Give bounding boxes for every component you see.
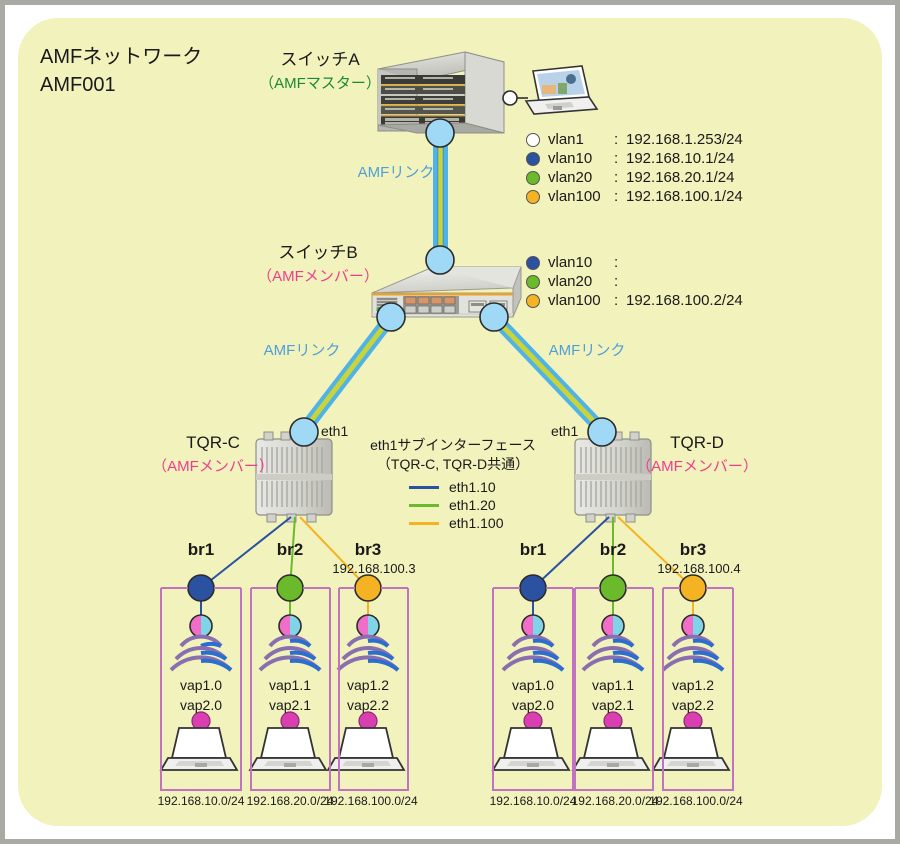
subnet-label-d-2: 192.168.20.0/24 <box>572 794 659 809</box>
vap-label-d-2b: vap2.1 <box>592 697 634 715</box>
tqr-c-device <box>256 432 332 522</box>
vap-label-d-1a: vap1.0 <box>512 677 554 695</box>
br-label-d-3: br3 <box>680 539 706 560</box>
diagram-page: AMFネットワーク AMF001 スイッチA （AMFマスター） スイッチB （… <box>0 0 900 844</box>
amf-link-b-c <box>304 317 391 430</box>
eth1-100-swatch <box>409 522 439 525</box>
vlan-sep: : <box>614 254 626 271</box>
legend-row: vlan20: <box>526 272 743 291</box>
subif-legend-items: eth1.10 eth1.20 eth1.100 <box>409 478 504 532</box>
page-title-line1: AMFネットワーク <box>40 45 202 70</box>
legend-row: vlan20:192.168.20.1/24 <box>526 168 743 187</box>
tqr-d-role: （AMFメンバー） <box>636 458 758 477</box>
vap-label-c-1b: vap2.0 <box>180 697 222 715</box>
subif-name: eth1.10 <box>449 479 496 495</box>
br-ip-c-3: 192.168.100.3 <box>332 561 415 577</box>
vlan-ip: 192.168.1.253/24 <box>626 131 743 148</box>
switch-b-role: （AMFメンバー） <box>257 268 379 287</box>
subnet-label-c-2: 192.168.20.0/24 <box>247 794 334 809</box>
vlan10-dot <box>526 152 540 166</box>
vlan-ip: 192.168.100.2/24 <box>626 292 743 309</box>
tqr-d-port-label: eth1 <box>551 423 578 441</box>
subif-legend-row: eth1.10 <box>409 478 504 496</box>
vlan100-dot <box>526 294 540 308</box>
vlan-sep: : <box>614 273 626 290</box>
vlan-sep: : <box>614 188 626 205</box>
vlan-name: vlan10 <box>548 254 614 271</box>
subif-legend-title-line1: eth1サブインターフェース <box>370 437 536 455</box>
vap-label-d-3a: vap1.2 <box>672 677 714 695</box>
management-laptop <box>504 66 597 114</box>
vlan1-dot <box>526 133 540 147</box>
tqr-c-role: （AMFメンバー） <box>152 458 274 477</box>
eth1-20-swatch <box>409 504 439 507</box>
legend-row: vlan10: <box>526 253 743 272</box>
page-title-line2: AMF001 <box>40 73 116 98</box>
vlan-name: vlan1 <box>548 131 614 148</box>
vlan10-dot <box>526 256 540 270</box>
br-label-c-1: br1 <box>188 539 214 560</box>
vlan-sep: : <box>614 169 626 186</box>
vlan-name: vlan100 <box>548 292 614 309</box>
subif-legend-row: eth1.20 <box>409 496 504 514</box>
vlan100-dot <box>526 190 540 204</box>
switch-a-role: （AMFマスター） <box>259 75 381 94</box>
legend-row: vlan100:192.168.100.2/24 <box>526 291 743 310</box>
vlan-sep: : <box>614 131 626 148</box>
vlan-ip: 192.168.20.1/24 <box>626 169 734 186</box>
vlan20-dot <box>526 275 540 289</box>
subif-legend-row: eth1.100 <box>409 514 504 532</box>
vlan-sep: : <box>614 150 626 167</box>
tqr-d-label: TQR-D <box>670 432 724 453</box>
vap-label-c-2a: vap1.1 <box>269 677 311 695</box>
tqr-c-port-label: eth1 <box>321 423 348 441</box>
vap-label-c-3a: vap1.2 <box>347 677 389 695</box>
subif-name: eth1.20 <box>449 497 496 513</box>
vap-label-c-3b: vap2.2 <box>347 697 389 715</box>
client-laptops <box>161 712 729 770</box>
br-ip-d-3: 192.168.100.4 <box>657 561 740 577</box>
br-label-c-3: br3 <box>355 539 381 560</box>
amf-link-label-b-d: AMFリンク <box>549 342 626 361</box>
vlan-legend-switch-b: vlan10: vlan20: vlan100:192.168.100.2/24 <box>526 253 743 310</box>
subif-legend-title-line2: （TQR-C, TQR-D共通） <box>377 456 529 474</box>
vap-label-d-2a: vap1.1 <box>592 677 634 695</box>
subif-name: eth1.100 <box>449 515 504 531</box>
vap-label-d-3b: vap2.2 <box>672 697 714 715</box>
vlan20-dot <box>526 171 540 185</box>
eth1-10-swatch <box>409 486 439 489</box>
amf-link-a-b <box>433 131 448 263</box>
vlan-sep: : <box>614 292 626 309</box>
legend-row: vlan1:192.168.1.253/24 <box>526 130 743 149</box>
br-label-d-1: br1 <box>520 539 546 560</box>
amf-link-label-a-b: AMFリンク <box>358 164 435 183</box>
vlan-ip: 192.168.100.1/24 <box>626 188 743 205</box>
vlan-ip: 192.168.10.1/24 <box>626 150 734 167</box>
vlan-name: vlan10 <box>548 150 614 167</box>
subnet-label-c-1: 192.168.10.0/24 <box>158 794 245 809</box>
br-label-c-2: br2 <box>277 539 303 560</box>
legend-row: vlan10:192.168.10.1/24 <box>526 149 743 168</box>
subnet-label-d-3: 192.168.100.0/24 <box>649 794 742 809</box>
amf-link-label-b-c: AMFリンク <box>264 342 341 361</box>
br-label-d-2: br2 <box>600 539 626 560</box>
vlan-legend-switch-a: vlan1:192.168.1.253/24 vlan10:192.168.10… <box>526 130 743 206</box>
bridge-group-boxes <box>161 588 733 790</box>
vlan-name: vlan100 <box>548 188 614 205</box>
subnet-label-d-1: 192.168.10.0/24 <box>490 794 577 809</box>
vap-label-d-1b: vap2.0 <box>512 697 554 715</box>
legend-row: vlan100:192.168.100.1/24 <box>526 187 743 206</box>
vap-radio-icons <box>171 615 723 670</box>
subnet-label-c-3: 192.168.100.0/24 <box>324 794 417 809</box>
vlan-name: vlan20 <box>548 169 614 186</box>
switch-b-label: スイッチB <box>278 242 357 263</box>
diagram-graphics <box>5 5 900 844</box>
amf-link-b-d <box>494 317 602 430</box>
tqr-d-device <box>575 432 651 522</box>
switch-a-label: スイッチA <box>280 49 359 70</box>
vap-label-c-2b: vap2.1 <box>269 697 311 715</box>
vlan-name: vlan20 <box>548 273 614 290</box>
vap-label-c-1a: vap1.0 <box>180 677 222 695</box>
tqr-c-label: TQR-C <box>186 432 240 453</box>
